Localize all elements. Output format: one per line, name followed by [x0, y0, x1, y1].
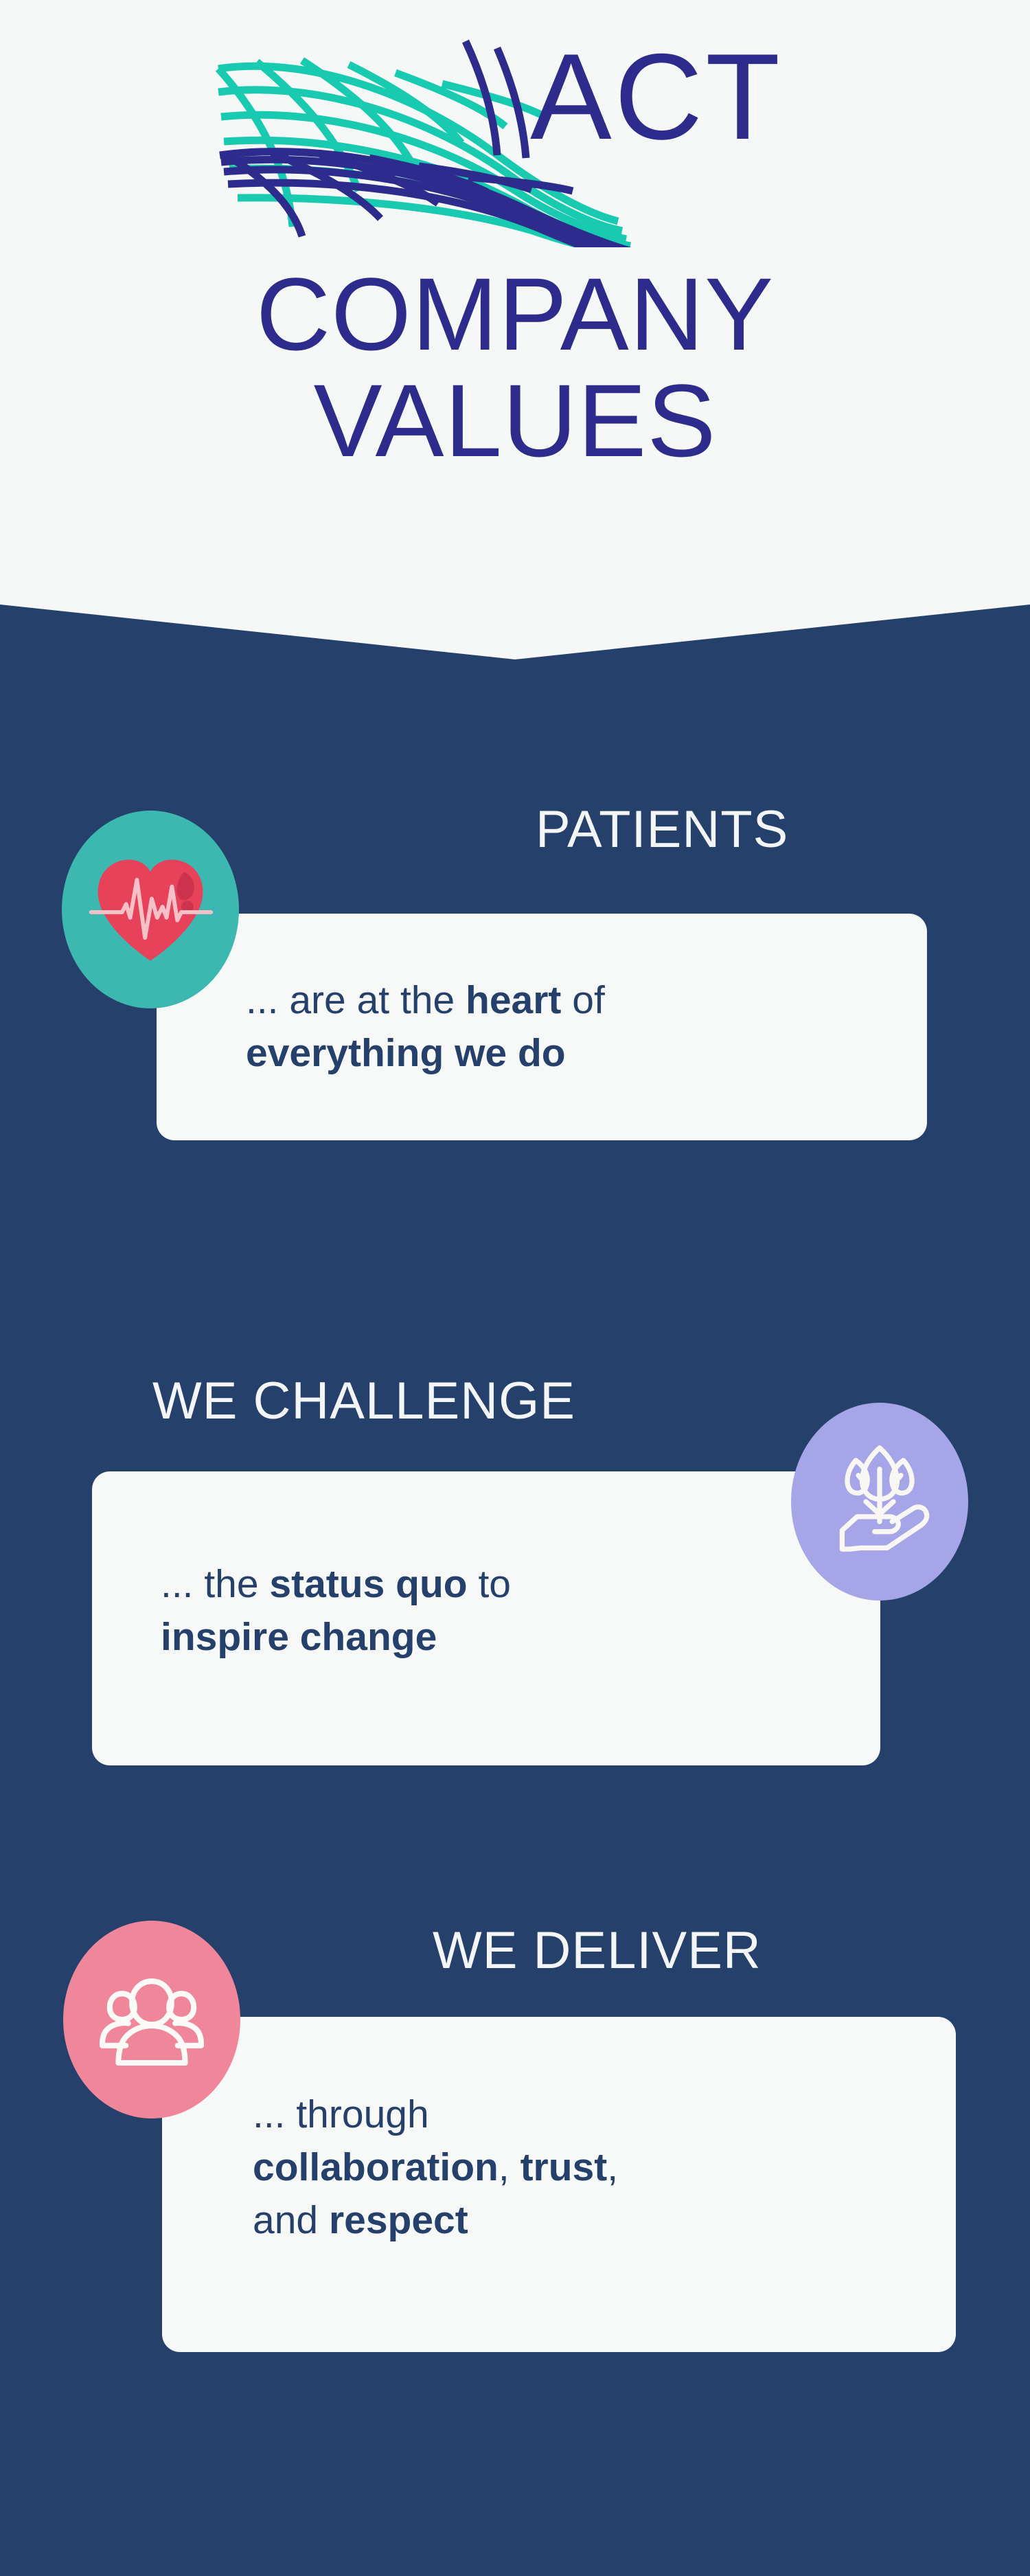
- value-card-line: and respect: [253, 2194, 939, 2247]
- value-card-line: ... through: [253, 2088, 939, 2141]
- people-group-icon-glyph: [90, 1958, 214, 2081]
- value-card-line: collaboration, trust,: [253, 2141, 939, 2194]
- company-values-infographic: ACT COMPANY VALUES PATIENTS ... are at t…: [0, 0, 1030, 2576]
- value-card-deliver: ... throughcollaboration, trust,and resp…: [162, 2017, 956, 2352]
- value-heading-deliver: WE DELIVER: [433, 1923, 762, 1978]
- people-group-icon: [63, 1921, 240, 2119]
- value-block-deliver: WE DELIVER ... throughcollaboration, tru…: [0, 0, 1030, 2576]
- value-card-text-deliver: ... throughcollaboration, trust,and resp…: [253, 2088, 939, 2247]
